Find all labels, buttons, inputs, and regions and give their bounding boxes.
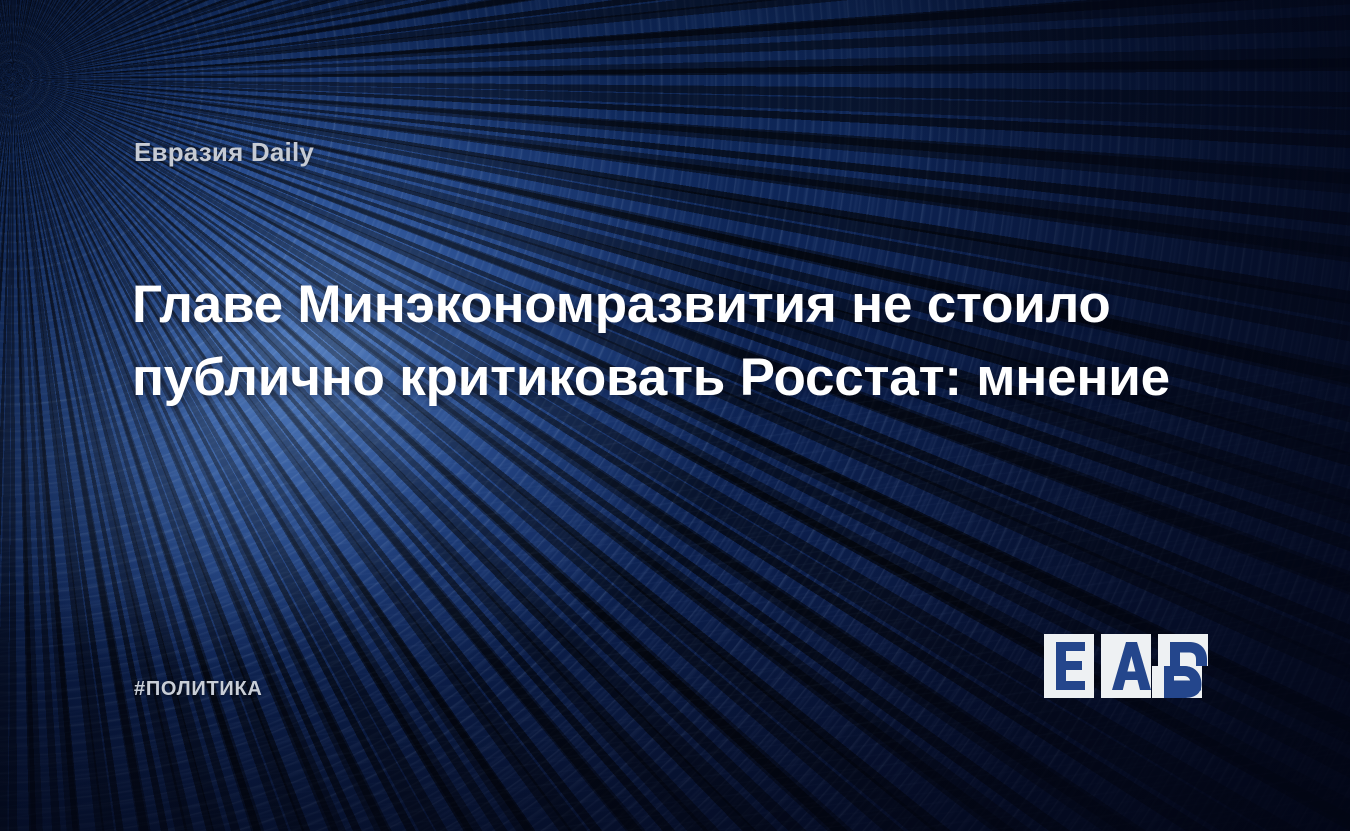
logo-letterforms xyxy=(1044,632,1228,720)
category-tag: #ПОЛИТИКА xyxy=(134,678,263,701)
ead-logo xyxy=(1044,632,1228,720)
logo-letter-a-icon xyxy=(1112,642,1151,690)
logo-letter-e-icon xyxy=(1056,642,1085,690)
logo-letter-d-top-icon xyxy=(1170,642,1207,666)
share-card: Евразия Daily Главе Минэкономразвития не… xyxy=(0,0,1350,831)
article-headline: Главе Минэкономразвития не стоило публич… xyxy=(132,268,1222,414)
brand-name: Евразия Daily xyxy=(134,137,314,168)
card-content: Евразия Daily Главе Минэкономразвития не… xyxy=(0,0,1350,831)
